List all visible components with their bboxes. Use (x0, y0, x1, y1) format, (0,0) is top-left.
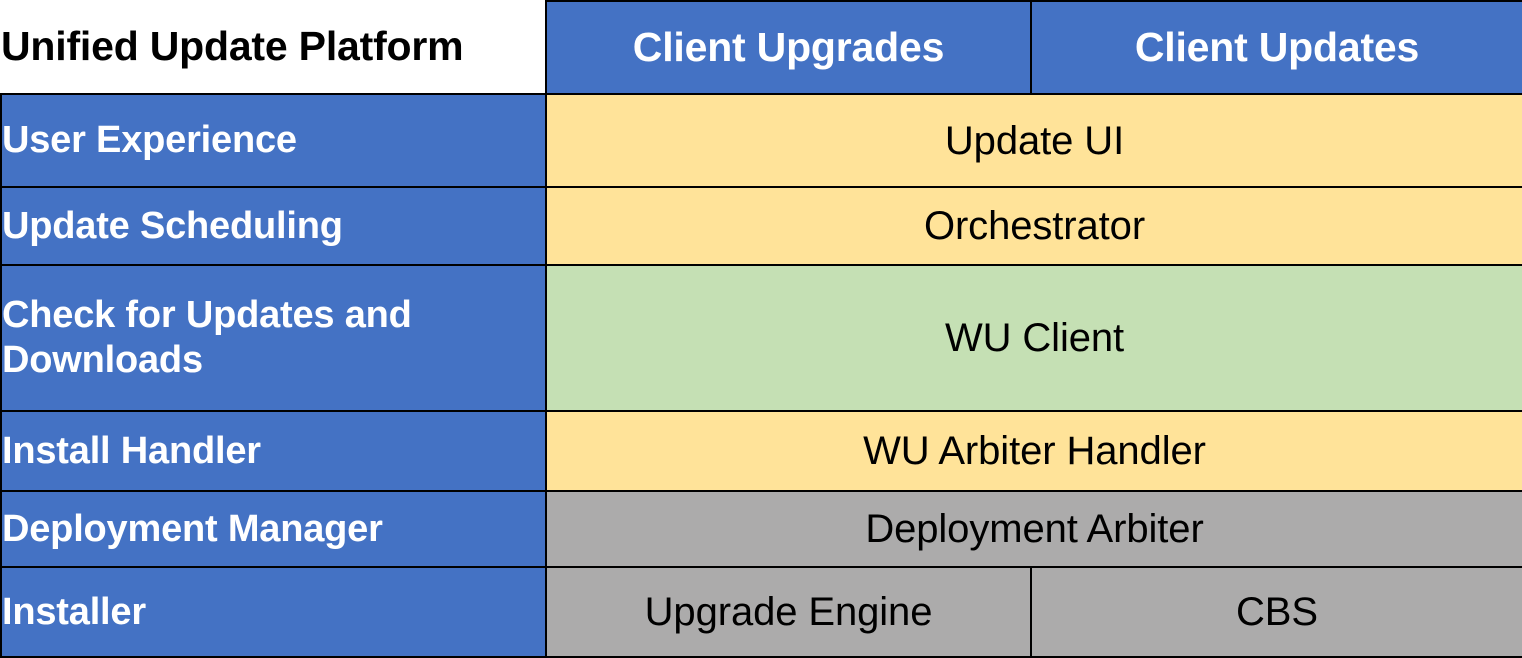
component-deployment-arbiter: Deployment Arbiter (546, 491, 1522, 567)
component-orchestrator: Orchestrator (546, 187, 1522, 265)
table-header-row: Unified Update Platform Client Upgrades … (1, 1, 1522, 94)
table-row: Deployment Manager Deployment Arbiter (1, 491, 1522, 567)
table-row: Installer Upgrade Engine CBS (1, 567, 1522, 657)
stage-label-check-for-updates-and-downloads: Check for Updates and Downloads (1, 265, 546, 411)
stage-label-update-scheduling: Update Scheduling (1, 187, 546, 265)
stage-label-deployment-manager: Deployment Manager (1, 491, 546, 567)
stage-label-install-handler: Install Handler (1, 411, 546, 491)
page-title: Unified Update Platform (1, 1, 546, 94)
table-row: User Experience Update UI (1, 94, 1522, 187)
component-upgrade-engine: Upgrade Engine (546, 567, 1031, 657)
stage-label-installer: Installer (1, 567, 546, 657)
component-update-ui: Update UI (546, 94, 1522, 187)
table-row: Install Handler WU Arbiter Handler (1, 411, 1522, 491)
component-cbs: CBS (1031, 567, 1522, 657)
component-wu-client: WU Client (546, 265, 1522, 411)
table-row: Check for Updates and Downloads WU Clien… (1, 265, 1522, 411)
column-header-client-upgrades: Client Upgrades (546, 1, 1031, 94)
column-header-client-updates: Client Updates (1031, 1, 1522, 94)
component-wu-arbiter-handler: WU Arbiter Handler (546, 411, 1522, 491)
unified-update-platform-table: Unified Update Platform Client Upgrades … (0, 0, 1522, 658)
table-row: Update Scheduling Orchestrator (1, 187, 1522, 265)
stage-label-user-experience: User Experience (1, 94, 546, 187)
